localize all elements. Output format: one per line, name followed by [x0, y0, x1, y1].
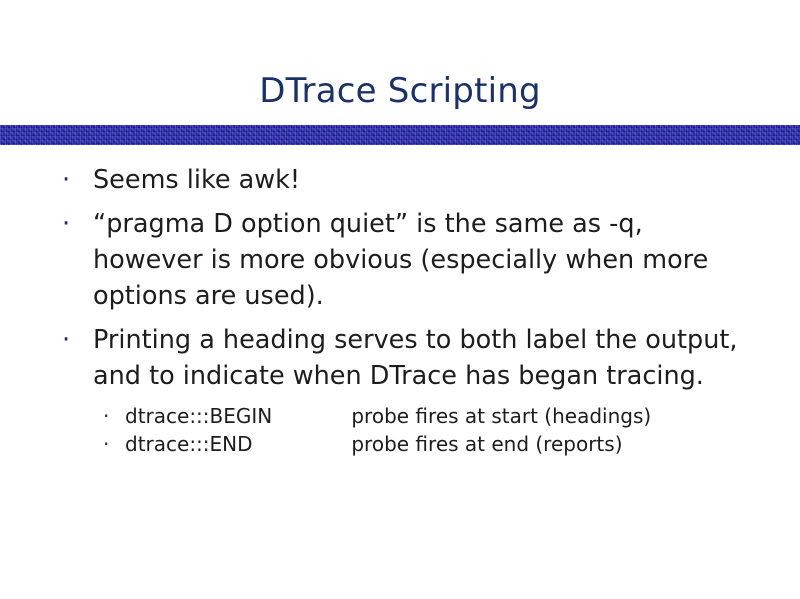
sub-list-item: · dtrace:::END probe fires at end (repor…: [0, 430, 800, 458]
presentation-slide: DTrace Scripting · Seems like awk! · “pr…: [0, 0, 800, 599]
probe-name: dtrace:::END: [125, 430, 345, 458]
bullet-icon: ·: [103, 430, 115, 458]
page-title: DTrace Scripting: [0, 70, 800, 112]
probe-name: dtrace:::BEGIN: [125, 402, 345, 430]
bullet-icon: ·: [62, 162, 76, 198]
probe-description: probe fires at start (headings): [351, 402, 651, 430]
sub-bullet-list: · dtrace:::BEGIN probe fires at start (h…: [0, 402, 800, 458]
list-item: · “pragma D option quiet” is the same as…: [0, 206, 800, 314]
bullet-icon: ·: [103, 402, 115, 430]
bullet-icon: ·: [62, 206, 76, 242]
list-item-label: Seems like awk!: [93, 162, 740, 198]
bullet-list: · Seems like awk! · “pragma D option qui…: [0, 162, 800, 458]
list-item: · Printing a heading serves to both labe…: [0, 322, 800, 394]
list-item-label: “pragma D option quiet” is the same as -…: [93, 206, 740, 314]
probe-description: probe fires at end (reports): [351, 430, 622, 458]
title-divider-bar: [0, 125, 800, 145]
list-item-label: Printing a heading serves to both label …: [93, 322, 740, 394]
bullet-icon: ·: [62, 322, 76, 358]
list-item: · Seems like awk!: [0, 162, 800, 198]
sub-list-item: · dtrace:::BEGIN probe fires at start (h…: [0, 402, 800, 430]
